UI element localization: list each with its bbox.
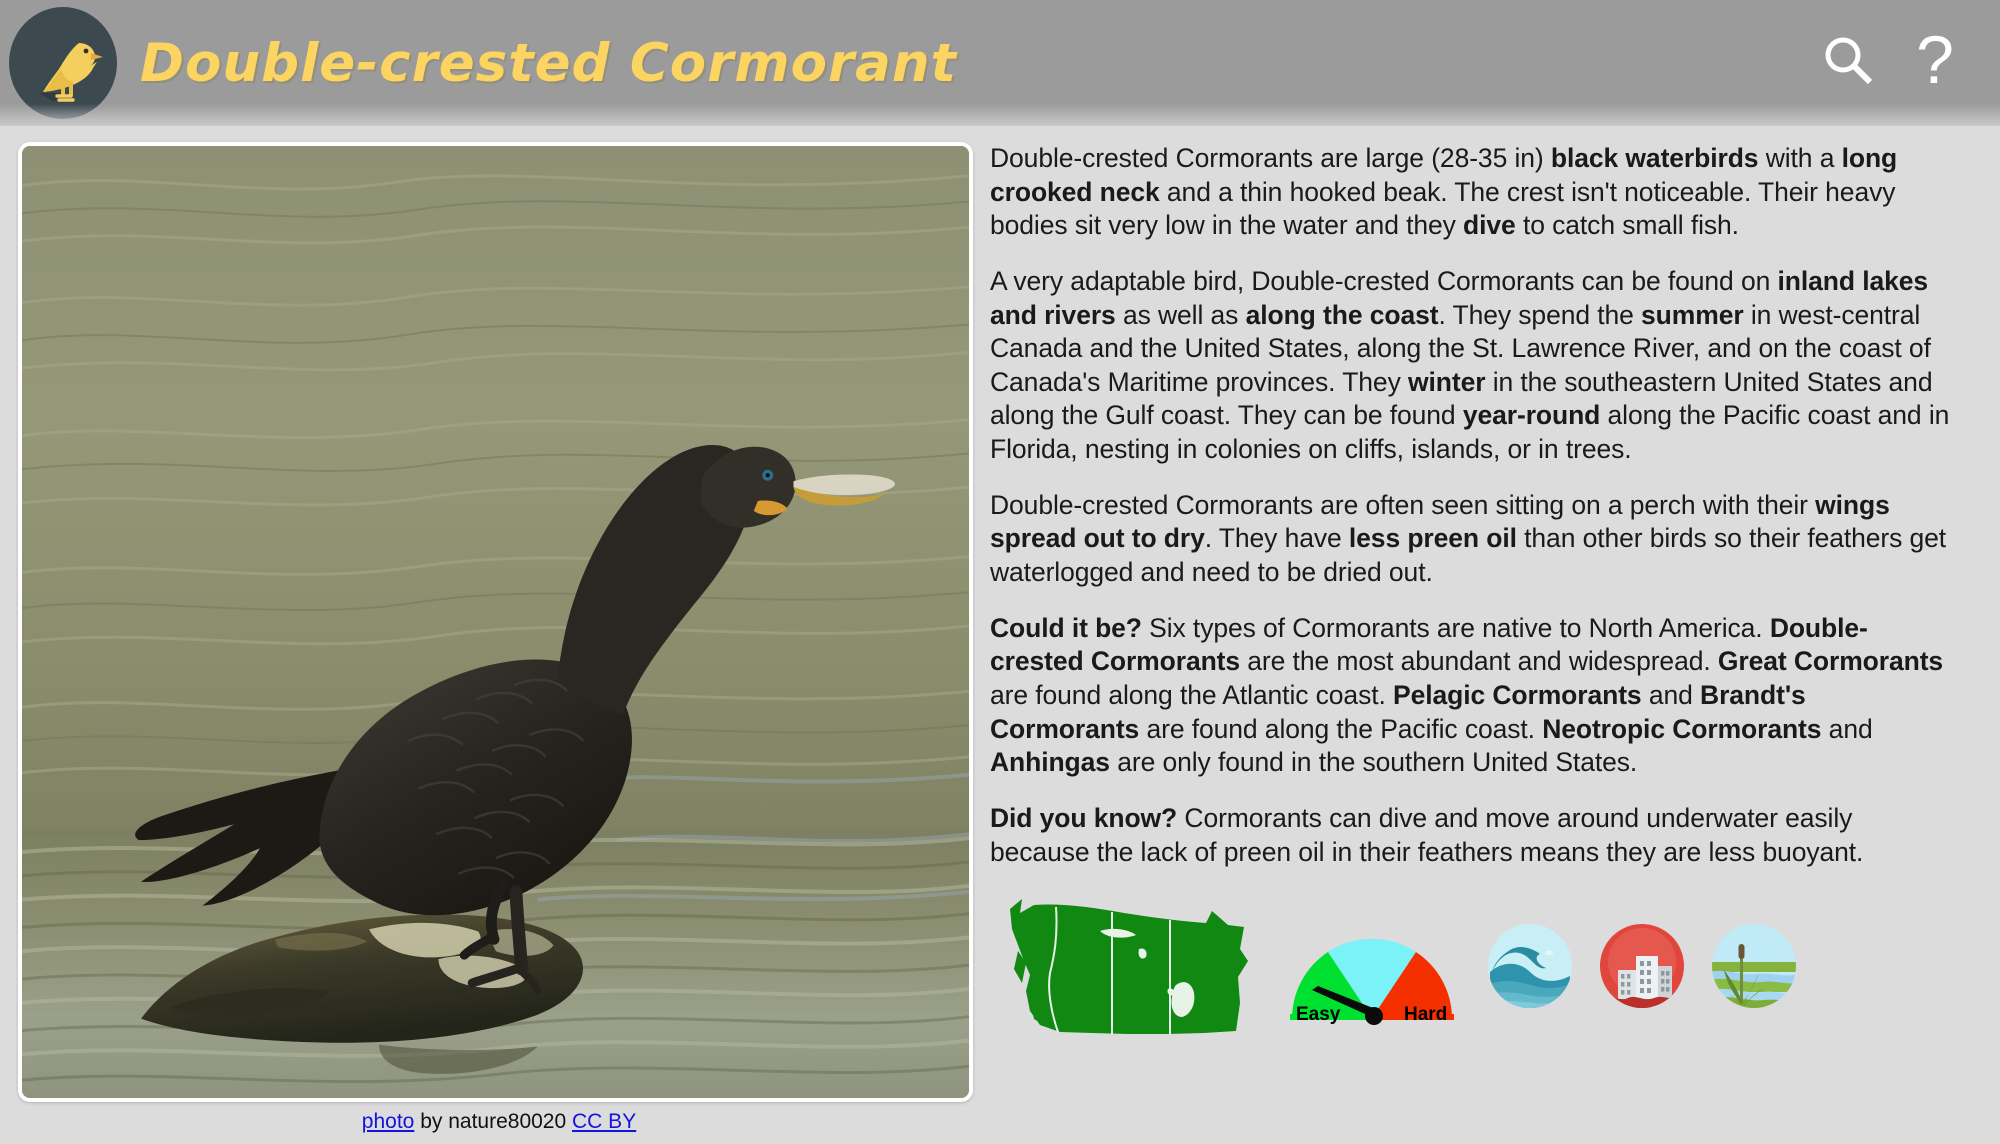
paragraph-range: A very adaptable bird, Double-crested Co… [990, 265, 1956, 467]
body-text: as well as [1116, 300, 1246, 330]
body-text: and [1821, 714, 1872, 744]
paragraph-description: Double-crested Cormorants are large (28-… [990, 142, 1956, 243]
info-column: Double-crested Cormorants are large (28-… [980, 142, 2000, 1041]
emphasis-text: less preen oil [1349, 523, 1517, 553]
emphasis-text: year-round [1463, 400, 1600, 430]
badge-row: Easy Hard [990, 891, 1956, 1041]
range-map-icon[interactable] [1000, 891, 1258, 1041]
emphasis-text: black waterbirds [1551, 143, 1759, 173]
ocean-wave-icon[interactable] [1486, 922, 1574, 1010]
page-title: Double-crested Cormorant [140, 33, 957, 94]
body-text: Six types of Cormorants are native to No… [1142, 613, 1770, 643]
bird-photo[interactable] [18, 142, 973, 1102]
emphasis-text: along the coast [1246, 300, 1439, 330]
gauge-easy-label: Easy [1296, 1004, 1341, 1025]
photo-license-link[interactable]: CC BY [572, 1110, 636, 1133]
gauge-hard-label: Hard [1404, 1004, 1447, 1025]
app-header: Double-crested Cormorant ? [0, 0, 2000, 126]
content-area: photo by nature80020 CC BY Double-creste… [0, 126, 2000, 1134]
search-icon[interactable] [1820, 32, 1876, 88]
emphasis-text: dive [1463, 210, 1516, 240]
paragraph-could-it-be: Could it be? Six types of Cormorants are… [990, 612, 1956, 780]
body-text: . They spend the [1438, 300, 1641, 330]
emphasis-text: summer [1641, 300, 1744, 330]
body-text: are only found in the southern United St… [1110, 747, 1637, 777]
paragraph-did-you-know: Did you know? Cormorants can dive and mo… [990, 802, 1956, 869]
paragraph-behavior: Double-crested Cormorants are often seen… [990, 489, 1956, 590]
photo-credit: photo by nature80020 CC BY [18, 1110, 980, 1134]
emphasis-text: Did you know? [990, 803, 1177, 833]
body-text: A very adaptable bird, Double-crested Co… [990, 266, 1778, 296]
body-text: are the most abundant and widespread. [1240, 646, 1718, 676]
emphasis-text: Anhingas [990, 747, 1110, 777]
body-text: are found along the Pacific coast. [1139, 714, 1542, 744]
emphasis-text: Neotropic Cormorants [1542, 714, 1821, 744]
photo-credit-by: by nature80020 [420, 1110, 566, 1133]
body-text: are found along the Atlantic coast. [990, 680, 1393, 710]
help-glyph: ? [1916, 22, 1954, 98]
header-actions: ? [1820, 32, 1954, 88]
photo-column: photo by nature80020 CC BY [0, 142, 980, 1134]
emphasis-text: Pelagic Cormorants [1393, 680, 1642, 710]
marsh-cattails-icon[interactable] [1710, 922, 1798, 1010]
body-text: to catch small fish. [1516, 210, 1739, 240]
body-text: . They have [1205, 523, 1349, 553]
emphasis-text: winter [1408, 367, 1485, 397]
city-buildings-icon[interactable] [1598, 922, 1686, 1010]
question-mark-icon[interactable]: ? [1916, 33, 1954, 87]
body-text: and [1642, 680, 1700, 710]
body-text: Double-crested Cormorants are large (28-… [990, 143, 1551, 173]
difficulty-gauge-icon[interactable]: Easy Hard [1282, 906, 1462, 1026]
photo-source-link[interactable]: photo [362, 1110, 415, 1133]
body-text: Double-crested Cormorants are often seen… [990, 490, 1815, 520]
emphasis-text: Could it be? [990, 613, 1142, 643]
logo-wrap[interactable] [4, 4, 122, 122]
body-text: with a [1758, 143, 1841, 173]
bird-logo-icon [9, 7, 117, 119]
emphasis-text: Great Cormorants [1718, 646, 1943, 676]
